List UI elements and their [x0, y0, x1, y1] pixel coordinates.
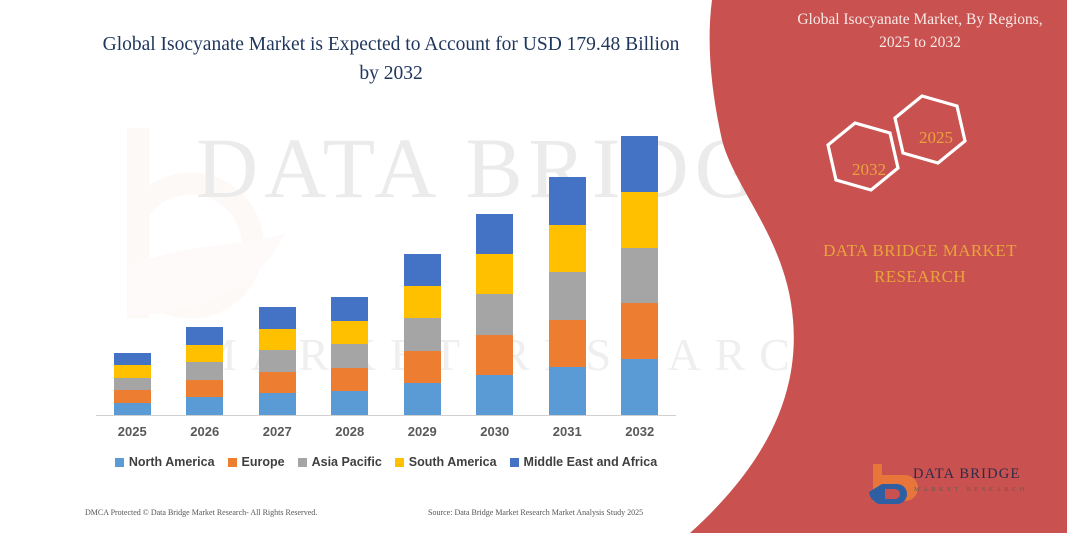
bar-column-2025[interactable]: [96, 353, 168, 415]
bar-segment[interactable]: [186, 380, 223, 398]
chart-legend: North AmericaEuropeAsia PacificSouth Ame…: [96, 455, 676, 469]
legend-swatch-icon: [115, 458, 124, 467]
bar-segment[interactable]: [621, 136, 658, 192]
legend-swatch-icon: [510, 458, 519, 467]
bar-column-2026[interactable]: [169, 327, 241, 415]
legend-label: North America: [129, 455, 215, 469]
legend-item[interactable]: North America: [115, 455, 215, 469]
bar-column-2028[interactable]: [314, 297, 386, 415]
bar-column-2027[interactable]: [241, 307, 313, 415]
bar-segment[interactable]: [331, 321, 368, 345]
hexagon-badges: [810, 90, 1050, 210]
legend-item[interactable]: Europe: [228, 455, 285, 469]
bar-segment[interactable]: [549, 367, 586, 415]
brand-panel-content: Global Isocyanate Market, By Regions, 20…: [790, 0, 1067, 533]
legend-swatch-icon: [298, 458, 307, 467]
bar-segment[interactable]: [259, 329, 296, 351]
bar-segment[interactable]: [404, 318, 441, 350]
bar-segment[interactable]: [331, 391, 368, 415]
bar-segment[interactable]: [259, 307, 296, 329]
chart-panel: DATA BRIDGE MARKET RESEARCH Global Isocy…: [0, 0, 720, 533]
market-infographic-page: DATA BRIDGE MARKET RESEARCH Global Isocy…: [0, 0, 1067, 533]
bar-segment[interactable]: [621, 192, 658, 248]
legend-item[interactable]: Asia Pacific: [298, 455, 382, 469]
bar-segment[interactable]: [114, 403, 151, 415]
bar-segment[interactable]: [476, 335, 513, 375]
x-axis-label-2032: 2032: [604, 424, 676, 439]
x-axis-label-2029: 2029: [386, 424, 458, 439]
bar-segment[interactable]: [114, 390, 151, 402]
bar-segment[interactable]: [259, 372, 296, 394]
legend-swatch-icon: [395, 458, 404, 467]
bar-segment[interactable]: [621, 359, 658, 415]
bar-segment[interactable]: [476, 375, 513, 415]
x-axis-label-2030: 2030: [459, 424, 531, 439]
bar-segment[interactable]: [186, 362, 223, 380]
bar-segment[interactable]: [259, 350, 296, 372]
bar-segment[interactable]: [331, 368, 368, 392]
bar-segment[interactable]: [476, 254, 513, 294]
page-title: Global Isocyanate Market is Expected to …: [96, 30, 686, 88]
bar-segment[interactable]: [404, 286, 441, 318]
bar-segment[interactable]: [114, 365, 151, 377]
bar-segment[interactable]: [549, 225, 586, 273]
legend-label: South America: [409, 455, 497, 469]
x-axis-labels: 20252026202720282029203020312032: [96, 424, 676, 446]
bar-column-2032[interactable]: [604, 136, 676, 415]
bar-segment[interactable]: [259, 393, 296, 415]
bar-segment[interactable]: [476, 214, 513, 254]
bar-segment[interactable]: [114, 378, 151, 390]
bar-column-2031[interactable]: [531, 177, 603, 415]
bar-segment[interactable]: [114, 353, 151, 365]
brand-name: DATA BRIDGE MARKET RESEARCH: [780, 238, 1060, 290]
bar-segment[interactable]: [186, 345, 223, 363]
chart-plot-area: [96, 110, 676, 416]
x-axis-label-2027: 2027: [241, 424, 313, 439]
bar-segment[interactable]: [186, 397, 223, 415]
x-axis-label-2031: 2031: [531, 424, 603, 439]
bar-segment[interactable]: [549, 320, 586, 368]
x-axis-label-2026: 2026: [169, 424, 241, 439]
hexagon-label-2025: 2025: [919, 128, 953, 148]
bar-segment[interactable]: [549, 177, 586, 225]
footer-copyright: DMCA Protected © Data Bridge Market Rese…: [85, 508, 317, 517]
legend-swatch-icon: [228, 458, 237, 467]
logo-text-main: DATA BRIDGE: [913, 466, 1021, 483]
x-axis-line: [96, 415, 676, 416]
bar-segment[interactable]: [331, 297, 368, 321]
legend-label: Europe: [242, 455, 285, 469]
x-axis-label-2025: 2025: [96, 424, 168, 439]
bar-segment[interactable]: [186, 327, 223, 345]
bar-segment[interactable]: [331, 344, 368, 368]
brand-logo: DATA BRIDGE MARKET RESEARCH: [865, 460, 1055, 512]
legend-item[interactable]: Middle East and Africa: [510, 455, 658, 469]
legend-item[interactable]: South America: [395, 455, 497, 469]
legend-label: Asia Pacific: [312, 455, 382, 469]
panel-title: Global Isocyanate Market, By Regions, 20…: [780, 8, 1060, 54]
bar-column-2030[interactable]: [459, 214, 531, 415]
bar-segment[interactable]: [404, 254, 441, 286]
bar-segment[interactable]: [404, 351, 441, 383]
bar-segment[interactable]: [621, 248, 658, 304]
bar-segment[interactable]: [404, 383, 441, 415]
bar-segment[interactable]: [549, 272, 586, 320]
bar-column-2029[interactable]: [386, 254, 458, 415]
logo-text-sub: MARKET RESEARCH: [914, 486, 1028, 493]
bar-segment[interactable]: [621, 303, 658, 359]
footer-source: Source: Data Bridge Market Research Mark…: [428, 508, 643, 517]
bar-segment[interactable]: [476, 294, 513, 334]
legend-label: Middle East and Africa: [524, 455, 658, 469]
hexagon-label-2032: 2032: [852, 160, 886, 180]
x-axis-label-2028: 2028: [314, 424, 386, 439]
